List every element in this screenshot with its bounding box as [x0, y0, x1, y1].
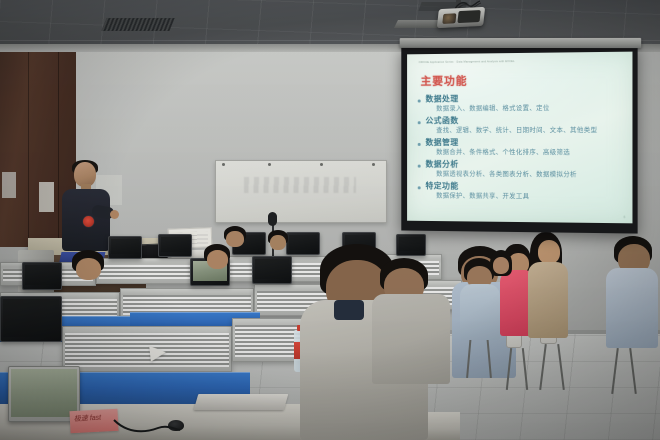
classroom-photo: OFFICE Application Series · Data Managem… [0, 0, 660, 440]
slide-bullet-heading: 数据处理 [425, 94, 626, 104]
bullet-dot-icon [418, 187, 420, 189]
bullet-dot-icon [418, 121, 420, 123]
slide-bullet-detail: 数据合并、条件格式、个性化排序、高级筛选 [436, 150, 626, 157]
audience-person [488, 250, 516, 310]
slide-bullet-group-5: 特定功能 数据保护、数据共享、开发工具 [417, 183, 627, 202]
lab-monitor [108, 236, 142, 259]
slide-bullet-group-4: 数据分析 数据透视表分析、各类图表分析、数据模拟分析 [417, 161, 627, 180]
slide-bullet-detail: 数据透视表分析、各类图表分析、数据模拟分析 [436, 172, 626, 180]
lab-monitor [22, 262, 62, 290]
presenter-hand [110, 210, 119, 219]
ceiling-projector [437, 7, 485, 28]
slide-title: 主要功能 [421, 72, 468, 88]
audience-person-blue-shirt [606, 236, 656, 346]
projector-lens-icon [442, 13, 456, 24]
slide-bullet-heading: 数据管理 [425, 139, 626, 148]
collar [334, 300, 364, 320]
lab-monitor-foreground [0, 296, 62, 342]
bullet-dot-icon [418, 100, 420, 102]
audience-person-tan-coat [528, 232, 570, 336]
bullet-dot-icon [418, 143, 420, 145]
slide-bullet-list: 数据处理 数据录入、数据编辑、格式设置、定位 公式函数 查找、逻辑、数学、统计、… [417, 94, 627, 206]
whiteboard-writing [244, 177, 356, 193]
slide-bullet-heading: 数据分析 [425, 161, 626, 170]
projection-screen-housing [400, 38, 642, 48]
lab-monitor [158, 234, 192, 257]
slide-bullet-detail: 数据保护、数据共享、开发工具 [436, 194, 626, 202]
bullet-dot-icon [418, 165, 420, 167]
mouse-cable-icon [112, 416, 182, 438]
cubicle-partition [62, 326, 232, 372]
presenter-shirt-logo [83, 216, 94, 227]
microphone-icon [268, 212, 277, 226]
slide-page-number: 6 [623, 215, 625, 219]
projector-body [457, 10, 480, 23]
lab-monitor [252, 256, 292, 284]
wall-notice-paper [39, 182, 54, 212]
presentation-slide: OFFICE Application Series · Data Managem… [407, 52, 632, 224]
slide-bullet-heading: 公式函数 [425, 117, 626, 126]
ceiling-vent-icon [101, 18, 174, 31]
slide-bullet-group-2: 公式函数 查找、逻辑、数学、统计、日期时间、文本、其他类型 [417, 117, 627, 135]
desk-sticker-text: 极速 fast [74, 413, 102, 424]
slide-bullet-heading: 特定功能 [425, 183, 626, 193]
slide-bullet-group-1: 数据处理 数据录入、数据编辑、格式设置、定位 [417, 94, 627, 113]
slide-header-line: OFFICE Application Series · Data Managem… [419, 59, 625, 64]
slide-bullet-detail: 数据录入、数据编辑、格式设置、定位 [436, 105, 626, 113]
slide-bullet-detail: 查找、逻辑、数学、统计、日期时间、文本、其他类型 [436, 128, 626, 135]
wall-notice-paper-2 [2, 172, 16, 198]
slide-bullet-group-3: 数据管理 数据合并、条件格式、个性化排序、高级筛选 [417, 139, 627, 157]
projection-screen: OFFICE Application Series · Data Managem… [401, 44, 637, 233]
whiteboard [215, 160, 387, 223]
lab-keyboard [194, 394, 289, 410]
audience-person [372, 258, 452, 378]
paper-flag-marker [149, 344, 167, 362]
